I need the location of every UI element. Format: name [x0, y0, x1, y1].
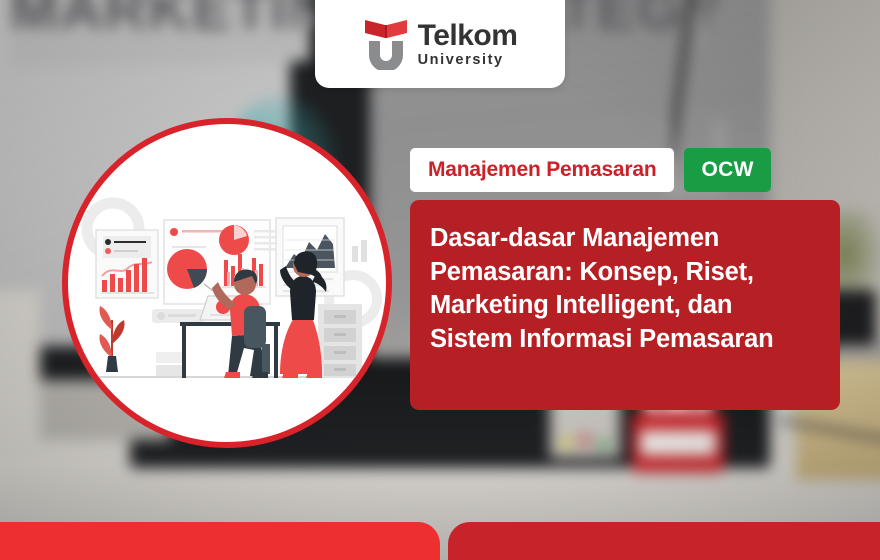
bottom-panel-right: [448, 522, 880, 560]
bottom-panel-left: [0, 522, 440, 560]
course-title-card: Dasar-dasar Manajemen Pemasaran: Konsep,…: [410, 200, 840, 410]
badge-row: Manajemen Pemasaran OCW: [410, 148, 771, 192]
brand-name-secondary: University: [418, 53, 518, 68]
ocw-badge[interactable]: OCW: [684, 148, 770, 192]
course-card-banner: MARKETING STRATEGY: [0, 0, 880, 560]
course-illustration-circle: [62, 118, 392, 448]
course-name-badge[interactable]: Manajemen Pemasaran: [410, 148, 674, 192]
brand-wordmark: Telkom University: [418, 21, 518, 68]
brand-logo-row: Telkom University: [363, 18, 518, 70]
telkom-university-logo-icon: [363, 18, 409, 70]
brand-name-primary: Telkom: [418, 21, 518, 51]
data-analysis-illustration: [68, 124, 392, 448]
brand-logo-card: Telkom University: [315, 0, 565, 88]
course-title: Dasar-dasar Manajemen Pemasaran: Konsep,…: [430, 222, 814, 357]
